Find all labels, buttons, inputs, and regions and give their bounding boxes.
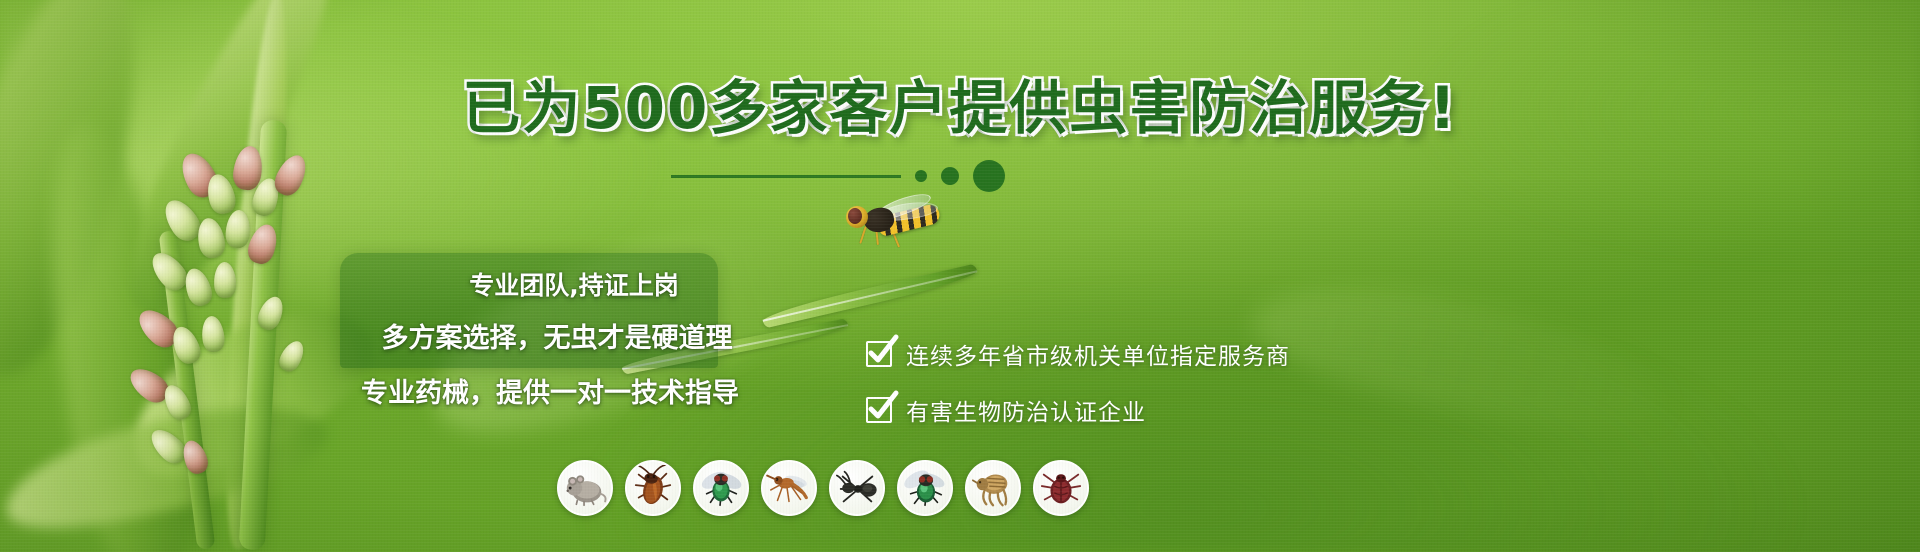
divider-rule-left bbox=[671, 175, 901, 178]
list-item: 有害生物防治认证企业 bbox=[866, 393, 1386, 427]
hoverfly-icon bbox=[842, 196, 942, 248]
pest-control-hero-banner: 已为500多家客户提供虫害防治服务! 专业团队,持证上岗 多方案选择，无虫才是硬… bbox=[0, 0, 1920, 552]
blowfly-icon bbox=[897, 460, 953, 516]
checkbox-checked-icon bbox=[866, 397, 892, 423]
checklist-label: 有害生物防治认证企业 bbox=[906, 393, 1146, 427]
selling-point-1: 专业团队,持证上岗 bbox=[388, 266, 760, 302]
headline-container: 已为500多家客户提供虫害防治服务! bbox=[0, 78, 1920, 139]
cockroach-icon bbox=[625, 460, 681, 516]
decor-dot-medium-icon bbox=[941, 167, 959, 185]
bedbug-icon bbox=[1033, 460, 1089, 516]
mosquito-icon bbox=[761, 460, 817, 516]
selling-point-2: 多方案选择，无虫才是硬道理 bbox=[354, 316, 760, 355]
selling-point-3: 专业药械，提供一对一技术指导 bbox=[340, 371, 760, 410]
decorative-divider bbox=[0, 160, 1920, 192]
checklist-label: 连续多年省市级机关单位指定服务商 bbox=[906, 337, 1290, 371]
checkbox-checked-icon bbox=[866, 341, 892, 367]
page-title: 已为500多家客户提供虫害防治服务! bbox=[462, 78, 1458, 139]
housefly-icon bbox=[693, 460, 749, 516]
list-item: 连续多年省市级机关单位指定服务商 bbox=[866, 337, 1386, 371]
mouse-icon bbox=[557, 460, 613, 516]
pest-icon-strip bbox=[557, 460, 1089, 516]
decor-dot-small-icon bbox=[915, 170, 927, 182]
decor-dot-large-icon bbox=[973, 160, 1005, 192]
selling-points-text: 专业团队,持证上岗 多方案选择，无虫才是硬道理 专业药械，提供一对一技术指导 bbox=[340, 258, 760, 410]
flea-icon bbox=[965, 460, 1021, 516]
ant-icon bbox=[829, 460, 885, 516]
certification-checklist: 连续多年省市级机关单位指定服务商 有害生物防治认证企业 bbox=[866, 337, 1386, 449]
